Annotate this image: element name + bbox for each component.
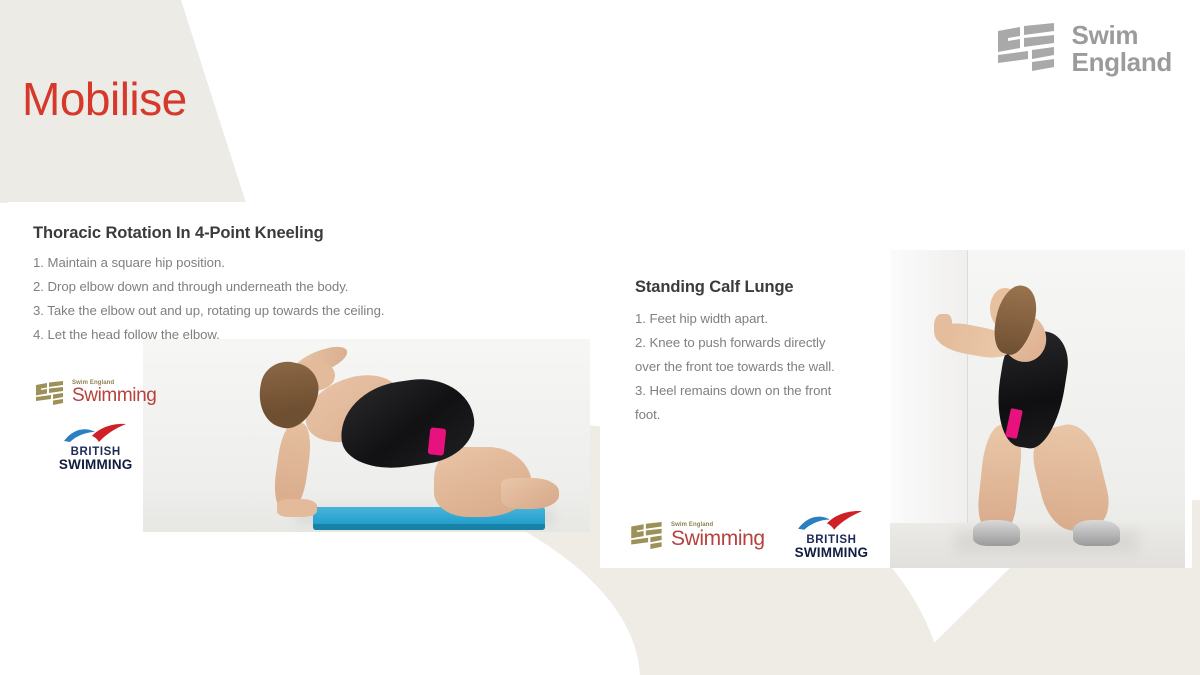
logo-big-text: Swimming <box>671 529 765 549</box>
page-title: Mobilise <box>22 76 187 122</box>
logo-line-2: England <box>1072 49 1172 76</box>
exercise-step: 3. Heel remains down on the front <box>635 379 860 403</box>
swim-england-wave-mark-icon <box>35 381 65 405</box>
exercise-step: 2. Knee to push forwards directly <box>635 331 860 355</box>
model-hand <box>277 499 317 516</box>
model-back-shoe <box>1073 520 1120 545</box>
swim-england-logo: Swim England <box>996 22 1172 75</box>
british-swimming-swoosh-icon <box>796 510 866 533</box>
exercise-title: Standing Calf Lunge <box>635 278 794 297</box>
exercise-card: Thoracic Rotation In 4-Point Kneeling 1.… <box>8 202 588 532</box>
exercise-step: 1. Feet hip width apart. <box>635 307 860 331</box>
exercise-step: over the front toe towards the wall. <box>635 355 860 379</box>
model-front-shoe <box>973 520 1020 545</box>
exercise-card: Standing Calf Lunge 1. Feet hip width ap… <box>600 250 1192 568</box>
exercise-step: 3. Take the elbow out and up, rotating u… <box>33 299 563 323</box>
logo-line-2: SWIMMING <box>795 546 869 560</box>
exercise-photo <box>890 250 1185 568</box>
exercise-photo <box>143 339 590 532</box>
british-swimming-logo: BRITISH SWIMMING <box>35 423 156 472</box>
model-hand <box>934 314 952 343</box>
british-swimming-logo: BRITISH SWIMMING <box>795 510 869 560</box>
swim-england-wave-mark-icon <box>996 23 1058 75</box>
logo-big-text: Swimming <box>72 387 156 405</box>
photo-wall-corner <box>967 250 968 523</box>
exercise-mat-edge <box>313 524 545 530</box>
swim-england-swimming-wordmark: Swim England Swimming <box>72 380 156 405</box>
swim-england-swimming-logo: Swim England Swimming <box>35 380 156 405</box>
logo-line-1: Swim <box>1072 22 1172 49</box>
exercise-step: 2. Drop elbow down and through underneat… <box>33 275 563 299</box>
swim-england-swimming-wordmark: Swim England Swimming <box>671 522 765 549</box>
model-pink-panel <box>428 427 446 456</box>
slide-canvas: Mobilise Swim England Thoracic Rotation … <box>0 0 1200 675</box>
exercise-steps: 1. Feet hip width apart. 2. Knee to push… <box>635 307 860 427</box>
exercise-steps: 1. Maintain a square hip position. 2. Dr… <box>33 251 563 347</box>
exercise-step: foot. <box>635 403 860 427</box>
model-foot <box>501 478 559 509</box>
card-logos: Swim England Swimming BRITISH SWIMMING <box>630 510 868 560</box>
swim-england-wordmark: Swim England <box>1072 22 1172 75</box>
photo-side-wall <box>890 250 967 568</box>
logo-line-2: SWIMMING <box>35 458 156 472</box>
exercise-title: Thoracic Rotation In 4-Point Kneeling <box>33 224 324 243</box>
exercise-step: 1. Maintain a square hip position. <box>33 251 563 275</box>
swim-england-wave-mark-icon <box>630 522 664 549</box>
swim-england-swimming-logo: Swim England Swimming <box>630 522 765 549</box>
british-swimming-swoosh-icon <box>62 423 130 445</box>
card-logos: Swim England Swimming BRITISH SWIMMING <box>35 380 156 472</box>
